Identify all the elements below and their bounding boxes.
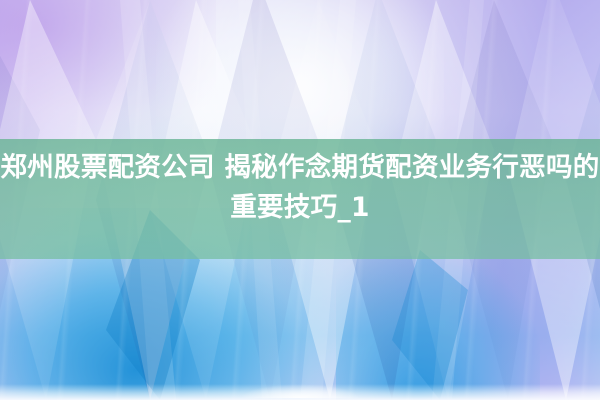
title-band: 郑州股票配资公司 揭秘作念期货配资业务行恶吗的 重要技巧_1 (0, 139, 600, 259)
banner-image: 郑州股票配资公司 揭秘作念期货配资业务行恶吗的 重要技巧_1 (0, 0, 600, 400)
bottom-highlight-spark (240, 384, 360, 398)
banner-title-line-1: 郑州股票配资公司 揭秘作念期货配资业务行恶吗的 (0, 148, 599, 188)
banner-title-line-2: 重要技巧_1 (230, 188, 370, 228)
